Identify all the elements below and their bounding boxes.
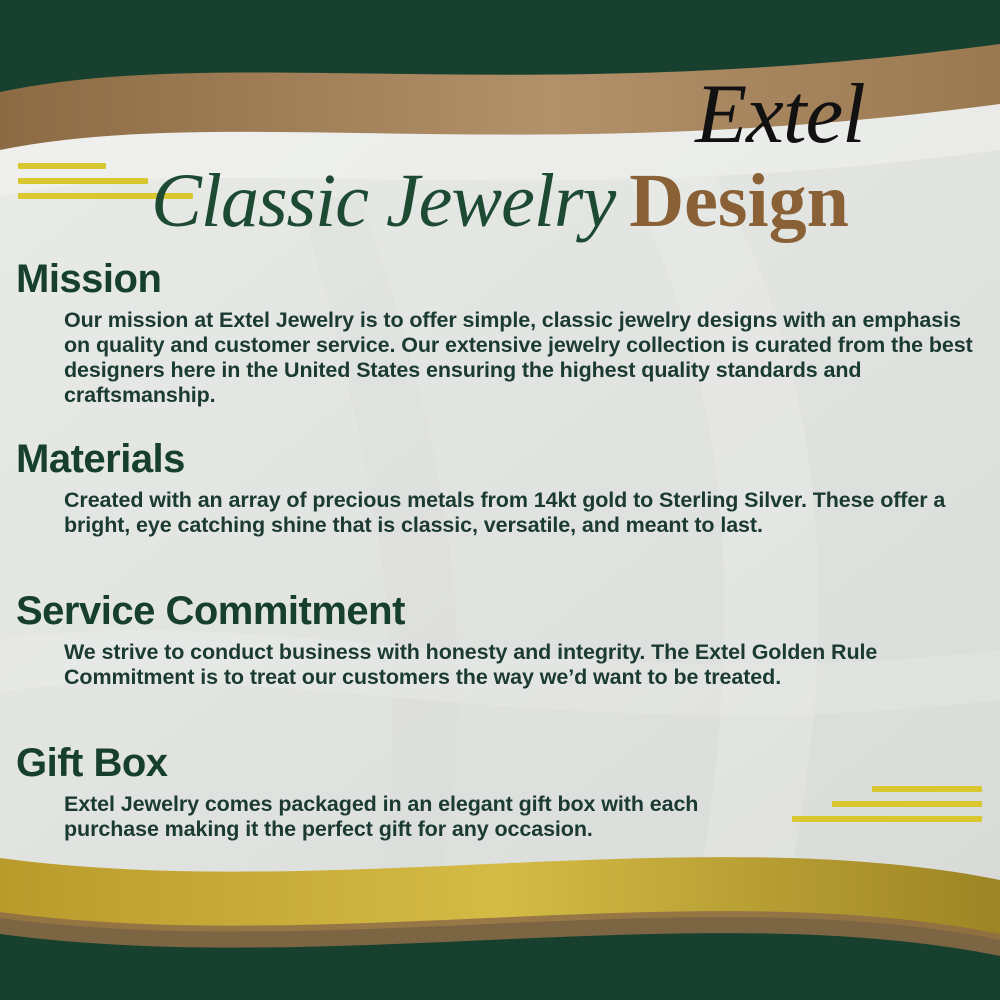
section-body: Our mission at Extel Jewelry is to offer…: [64, 308, 974, 409]
poster-canvas: Extel Classic JewelryDesign Mission Our …: [0, 0, 1000, 1000]
decor-rules-bottom-right: [792, 786, 982, 831]
page-title-part1: Classic Jewelry: [151, 159, 615, 243]
section-heading: Gift Box: [16, 742, 984, 784]
section-mission: Mission Our mission at Extel Jewelry is …: [16, 258, 984, 409]
section-materials: Materials Created with an array of preci…: [16, 438, 984, 538]
page-title-part2: Design: [629, 159, 849, 243]
section-body: Created with an array of precious metals…: [64, 488, 974, 538]
section-heading: Materials: [16, 438, 984, 480]
page-title: Classic JewelryDesign: [0, 158, 1000, 245]
section-service-commitment: Service Commitment We strive to conduct …: [16, 590, 984, 690]
section-heading: Service Commitment: [16, 590, 984, 632]
brand-wordmark: Extel: [600, 72, 960, 157]
poster-content: Extel Classic JewelryDesign Mission Our …: [0, 0, 1000, 1000]
section-body: We strive to conduct business with hones…: [64, 640, 974, 690]
section-body: Extel Jewelry comes packaged in an elega…: [64, 792, 764, 842]
section-heading: Mission: [16, 258, 984, 300]
